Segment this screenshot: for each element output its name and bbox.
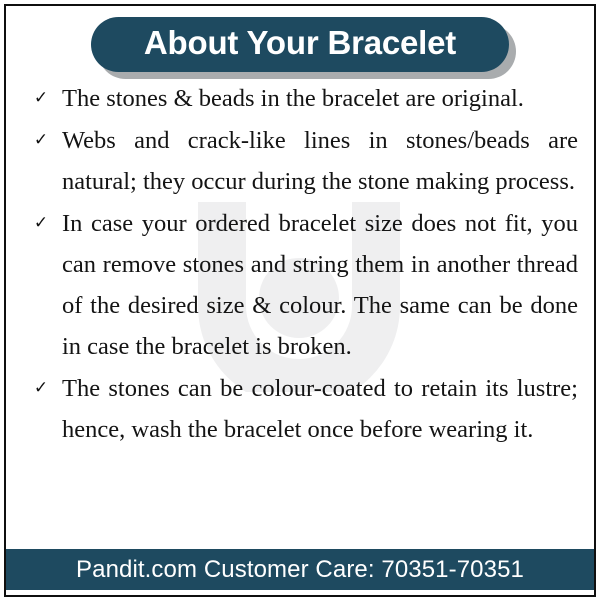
customer-care-text: Pandit.com Customer Care: 70351-70351 [76, 555, 524, 585]
list-item: ✓ In case your ordered bracelet size doe… [16, 203, 580, 367]
list-item-text: The stones & beads in the bracelet are o… [62, 78, 580, 119]
list-item-text: Webs and crack-like lines in stones/bead… [62, 120, 580, 202]
customer-care-bar: Pandit.com Customer Care: 70351-70351 [6, 549, 594, 590]
checkmark-icon: ✓ [16, 78, 62, 119]
page-title: About Your Bracelet [125, 23, 475, 63]
title-pill-wrapper: About Your Bracelet [91, 17, 509, 72]
list-item-text: The stones can be colour-coated to retai… [62, 368, 580, 450]
checkmark-icon: ✓ [16, 203, 62, 244]
about-your-bracelet-card: About Your Bracelet ✓ The stones & beads… [0, 0, 600, 600]
list-item: ✓ The stones & beads in the bracelet are… [16, 78, 580, 119]
list-item: ✓ Webs and crack-like lines in stones/be… [16, 120, 580, 202]
title-pill: About Your Bracelet [91, 17, 509, 72]
list-item-text: In case your ordered bracelet size does … [62, 203, 580, 367]
card-inner-frame: About Your Bracelet ✓ The stones & beads… [4, 4, 596, 597]
checkmark-icon: ✓ [16, 120, 62, 161]
header: About Your Bracelet [6, 6, 594, 78]
list-item: ✓ The stones can be colour-coated to ret… [16, 368, 580, 450]
checkmark-icon: ✓ [16, 368, 62, 409]
bullet-list: ✓ The stones & beads in the bracelet are… [6, 78, 594, 549]
footer: Pandit.com Customer Care: 70351-70351 [6, 549, 594, 595]
